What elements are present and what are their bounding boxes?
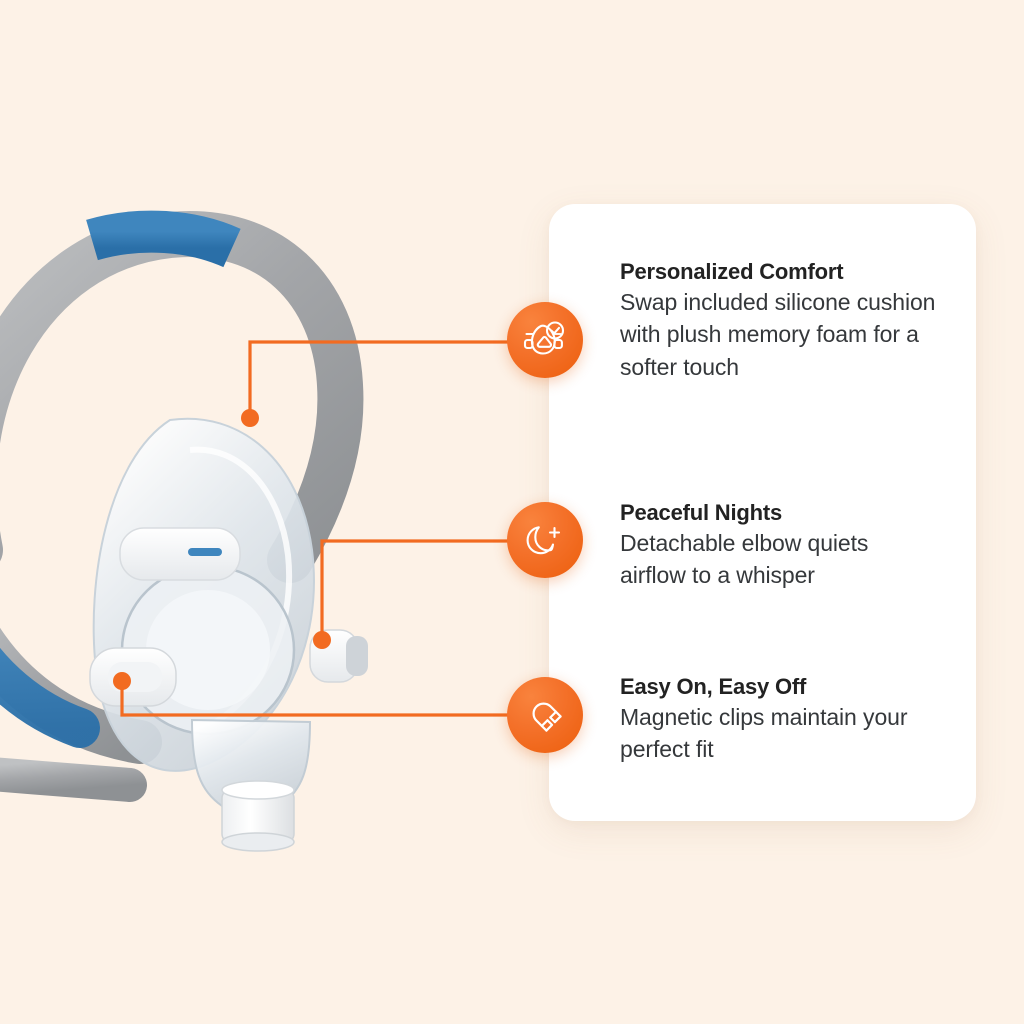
feature-block-3: Easy On, Easy Off Magnetic clips maintai…: [620, 673, 940, 766]
feature-description-2: Detachable elbow quiets airflow to a whi…: [620, 527, 940, 592]
feature-title-3: Easy On, Easy Off: [620, 673, 940, 701]
mask-cushion: [94, 419, 314, 771]
feature-block-2: Peaceful Nights Detachable elbow quiets …: [620, 499, 940, 592]
mask-frame-clip-right: [310, 630, 368, 682]
feature-description-3: Magnetic clips maintain your perfect fit: [620, 701, 940, 766]
cpap-mask-illustration: [0, 130, 500, 890]
magnetic-clip: [90, 648, 176, 706]
mask-check-icon: [522, 317, 568, 363]
feature-description-1: Swap included silicone cushion with plus…: [620, 286, 940, 384]
moon-sparkle-icon-badge[interactable]: [507, 502, 583, 578]
magnet-icon: [523, 693, 567, 737]
forehead-pad: [120, 528, 240, 580]
mask-check-icon-badge[interactable]: [507, 302, 583, 378]
product-image: [0, 130, 500, 890]
moon-sparkle-icon: [523, 518, 567, 562]
feature-title-2: Peaceful Nights: [620, 499, 940, 527]
feature-block-1: Personalized Comfort Swap included silic…: [620, 258, 940, 383]
mask-elbow: [192, 720, 310, 851]
magnet-icon-badge[interactable]: [507, 677, 583, 753]
feature-title-1: Personalized Comfort: [620, 258, 940, 286]
